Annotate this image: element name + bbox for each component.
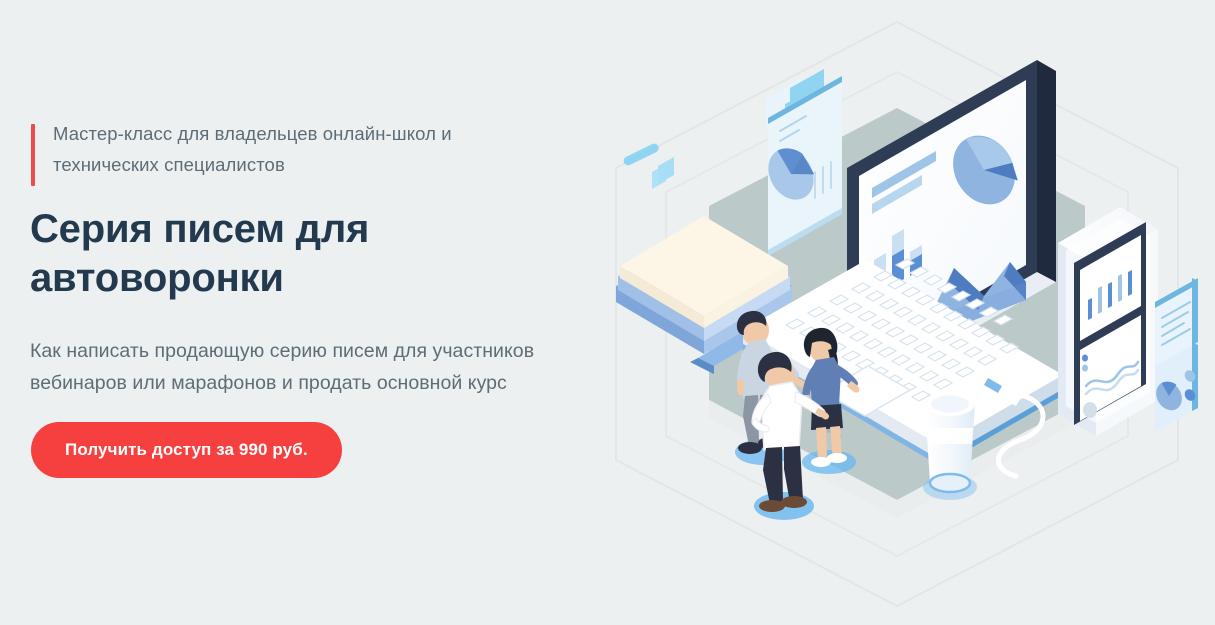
floating-tag-shapes (622, 142, 674, 189)
hero-eyebrow-text: Мастер-класс для владельцев онлайн-школ … (53, 118, 550, 180)
hero-section: Мастер-класс для владельцев онлайн-школ … (0, 0, 1215, 625)
hero-headline: Серия писем для автоворонки (30, 205, 450, 303)
hero-eyebrow: Мастер-класс для владельцев онлайн-школ … (30, 118, 550, 180)
hero-subheadline: Как написать продающую серию писем для у… (30, 335, 575, 399)
hero-copy-column: Мастер-класс для владельцев онлайн-школ … (30, 0, 600, 625)
eyebrow-accent-bar (31, 124, 35, 186)
hero-illustration (580, 0, 1215, 625)
smartphone (1058, 207, 1158, 436)
coffee-cup (923, 392, 977, 500)
isometric-workspace-svg (580, 0, 1215, 625)
get-access-button[interactable]: Получить доступ за 990 руб. (31, 422, 342, 478)
